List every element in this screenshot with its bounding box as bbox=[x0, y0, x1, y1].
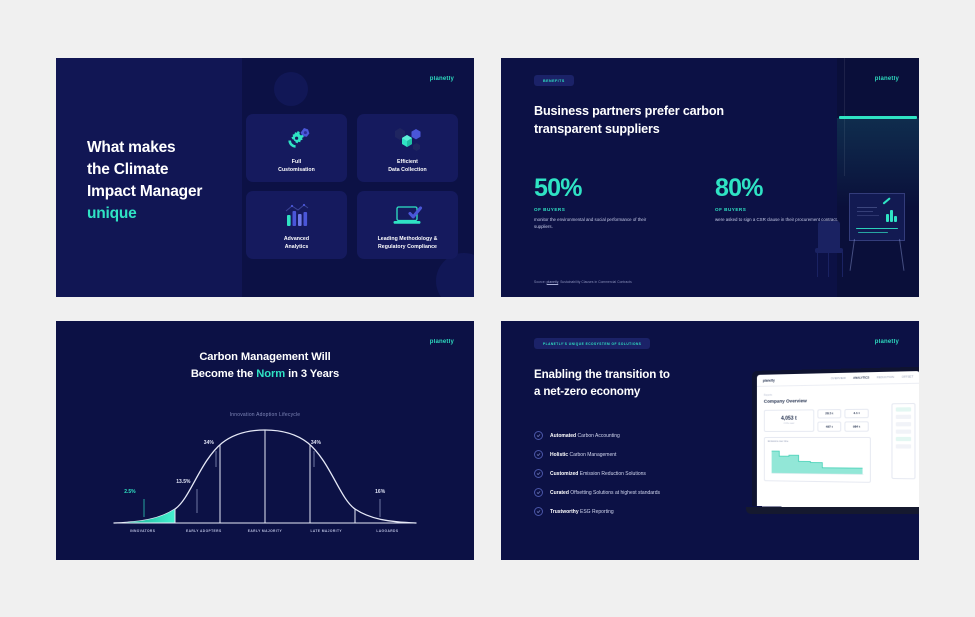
kpi-row: 4,053 t CO2e total 28.5 t 4.1 t 487 t 98… bbox=[764, 408, 912, 432]
dashboard-nav-item[interactable]: OFFSET bbox=[902, 375, 914, 378]
stat-value: 50% bbox=[534, 176, 659, 201]
list-item: Customized Emission Reduction Solutions bbox=[534, 464, 749, 483]
kpi-main-card: 4,053 t CO2e total bbox=[764, 409, 814, 432]
stat-description: monitor the environmental and social per… bbox=[534, 216, 659, 231]
planetly-logo: planetly bbox=[430, 76, 454, 82]
slide-1[interactable]: What makes the Climate Impact Manager un… bbox=[56, 58, 474, 297]
slide-4[interactable]: Planetly's unique ecosystem of solutions… bbox=[501, 321, 919, 560]
dashboard-area-chart: Emissions over time bbox=[764, 436, 871, 482]
check-circle-icon bbox=[534, 469, 543, 478]
check-circle-icon bbox=[534, 450, 543, 459]
easel-line bbox=[858, 232, 888, 233]
stat-subtitle: OF BUYERS bbox=[534, 207, 659, 212]
check-circle-icon bbox=[534, 507, 543, 516]
list-item-text: Customized Emission Reduction Solutions bbox=[550, 471, 646, 477]
feature-card-label: Full Customisation bbox=[278, 159, 315, 175]
source-link[interactable]: planetly bbox=[547, 280, 559, 284]
axis-label: EARLY ADOPTERS bbox=[173, 529, 234, 533]
feature-card-efficient-data-collection[interactable]: Efficient Data Collection bbox=[357, 114, 458, 182]
chart-value-label-early-majority: 34% bbox=[204, 440, 214, 446]
heading-line-1: Enabling the transition to bbox=[534, 367, 670, 384]
chart-title: Innovation Adoption Lifecycle bbox=[56, 412, 474, 418]
title-line-1: Carbon Management Will bbox=[56, 349, 474, 366]
axis-label: INNOVATORS bbox=[112, 529, 173, 533]
kpi-small-card: 984 t bbox=[844, 421, 868, 431]
flipchart-easel-illustration bbox=[843, 193, 911, 271]
axis-label: LATE MAJORITY bbox=[296, 529, 357, 533]
slide-4-badge: Planetly's unique ecosystem of solutions bbox=[534, 338, 650, 349]
slide-2-badge: Benefits bbox=[534, 75, 574, 86]
decorative-circle bbox=[274, 72, 308, 106]
laptop-check-icon bbox=[357, 200, 458, 232]
dashboard-logo: planetly bbox=[763, 378, 775, 382]
decorative-circle bbox=[436, 253, 474, 297]
dashboard-screen: planetly OVERVIEW ANALYTICS REDUCTION OF… bbox=[757, 371, 919, 510]
list-item: Curated Offsetting Solutions at highest … bbox=[534, 483, 749, 502]
slide-4-heading: Enabling the transition to a net-zero ec… bbox=[534, 367, 670, 401]
feature-card-grid: Full Customisation Efficient bbox=[246, 114, 458, 259]
bar-chart-icon bbox=[246, 200, 347, 232]
slide-deck: What makes the Climate Impact Manager un… bbox=[0, 0, 975, 617]
chart-value-label-late-majority: 34% bbox=[311, 440, 321, 446]
kpi-small-card: 4.1 t bbox=[844, 408, 868, 418]
title-line-2: Become the Norm in 3 Years bbox=[56, 366, 474, 383]
planetly-logo: planetly bbox=[430, 339, 454, 345]
statistics-group: 50% OF BUYERS monitor the environmental … bbox=[534, 176, 840, 231]
stat-block: 50% OF BUYERS monitor the environmental … bbox=[534, 176, 659, 231]
stat-description: were asked to sign a CSR clause in their… bbox=[715, 216, 840, 223]
kpi-small-card: 28.5 t bbox=[817, 409, 841, 419]
stat-subtitle: OF BUYERS bbox=[715, 207, 840, 212]
list-item: Automated Carbon Accounting bbox=[534, 426, 749, 445]
laptop-base bbox=[746, 507, 919, 515]
kpi-main-value: 4,053 t bbox=[781, 416, 797, 422]
adoption-lifecycle-chart: 2.5% 13.5% 34% 34% 16% bbox=[112, 425, 418, 529]
feature-card-leading-methodology[interactable]: Leading Methodology & Regulatory Complia… bbox=[357, 191, 458, 259]
list-item: Holistic Carbon Management bbox=[534, 445, 749, 464]
slide-3[interactable]: Carbon Management Will Become the Norm i… bbox=[56, 321, 474, 560]
chart-value-label-innovators: 2.5% bbox=[124, 489, 135, 495]
heading-line-2: a net-zero economy bbox=[534, 384, 670, 401]
kpi-small-card: 487 t bbox=[817, 421, 841, 431]
laptop-mockup: planetly OVERVIEW ANALYTICS REDUCTION OF… bbox=[752, 371, 919, 514]
easel-bar bbox=[890, 210, 893, 222]
easel-line bbox=[856, 228, 898, 229]
slide-1-title: What makes the Climate Impact Manager un… bbox=[87, 137, 202, 225]
list-item-text: Trustworthy ESG Reporting bbox=[550, 509, 614, 515]
list-item-text: Holistic Carbon Management bbox=[550, 452, 616, 458]
title-line-2: the Climate bbox=[87, 159, 202, 181]
dashboard-nav-item[interactable]: REDUCTION bbox=[877, 376, 894, 380]
kpi-main-label: CO2e total bbox=[784, 423, 795, 425]
dashboard-side-panel bbox=[891, 403, 915, 479]
stat-block: 80% OF BUYERS were asked to sign a CSR c… bbox=[715, 176, 840, 231]
title-accent: Norm bbox=[256, 368, 285, 380]
kpi-small-grid: 28.5 t 4.1 t 487 t 984 t bbox=[817, 408, 868, 431]
hexagon-cubes-icon bbox=[357, 123, 458, 155]
title-line-1: What makes bbox=[87, 137, 202, 159]
easel-bar bbox=[894, 216, 897, 222]
planetly-logo: planetly bbox=[875, 76, 899, 82]
source-citation: Source: planetly, Sustainability Clauses… bbox=[534, 280, 632, 284]
slide-2[interactable]: Benefits Business partners prefer carbon… bbox=[501, 58, 919, 297]
slide-2-heading: Business partners prefer carbon transpar… bbox=[534, 103, 799, 139]
wall-accent-bar bbox=[839, 116, 917, 119]
feature-card-label: Leading Methodology & Regulatory Complia… bbox=[378, 236, 438, 252]
chart-value-label-early-adopters: 13.5% bbox=[176, 479, 190, 485]
chart-value-label-laggards: 16% bbox=[375, 489, 385, 495]
check-circle-icon bbox=[534, 431, 543, 440]
check-circle-icon bbox=[534, 488, 543, 497]
area-chart-svg bbox=[768, 443, 867, 477]
list-item: Trustworthy ESG Reporting bbox=[534, 502, 749, 521]
heading-line-1: Business partners prefer carbon bbox=[534, 103, 799, 121]
gear-icon bbox=[246, 123, 347, 155]
list-item-text: Automated Carbon Accounting bbox=[550, 433, 620, 439]
benefits-list: Automated Carbon Accounting Holistic Car… bbox=[534, 426, 749, 521]
list-item-text: Curated Offsetting Solutions at highest … bbox=[550, 490, 660, 496]
dashboard-title: Company Overview bbox=[764, 396, 912, 403]
laptop-lid: planetly OVERVIEW ANALYTICS REDUCTION OF… bbox=[752, 367, 919, 511]
feature-card-label: Efficient Data Collection bbox=[388, 159, 427, 175]
axis-label: LAGGARDS bbox=[357, 529, 418, 533]
slide-3-title: Carbon Management Will Become the Norm i… bbox=[56, 349, 474, 383]
heading-line-2: transparent suppliers bbox=[534, 121, 799, 139]
title-accent: unique bbox=[87, 203, 202, 225]
chart-x-axis-labels: INNOVATORS EARLY ADOPTERS EARLY MAJORITY… bbox=[112, 529, 418, 533]
axis-label: EARLY MAJORITY bbox=[234, 529, 295, 533]
planetly-logo: planetly bbox=[875, 339, 899, 345]
dashboard-nav-item-active[interactable]: ANALYTICS bbox=[853, 376, 869, 379]
feature-card-label: Advanced Analytics bbox=[284, 236, 309, 252]
title-line-3: Impact Manager bbox=[87, 181, 202, 203]
feature-card-advanced-analytics[interactable]: Advanced Analytics bbox=[246, 191, 347, 259]
feature-card-full-customisation[interactable]: Full Customisation bbox=[246, 114, 347, 182]
stat-value: 80% bbox=[715, 176, 840, 201]
easel-pen-mark bbox=[883, 197, 891, 204]
dashboard-nav-item[interactable]: OVERVIEW bbox=[831, 377, 846, 380]
easel-bar bbox=[886, 214, 889, 222]
easel-board bbox=[849, 193, 905, 241]
